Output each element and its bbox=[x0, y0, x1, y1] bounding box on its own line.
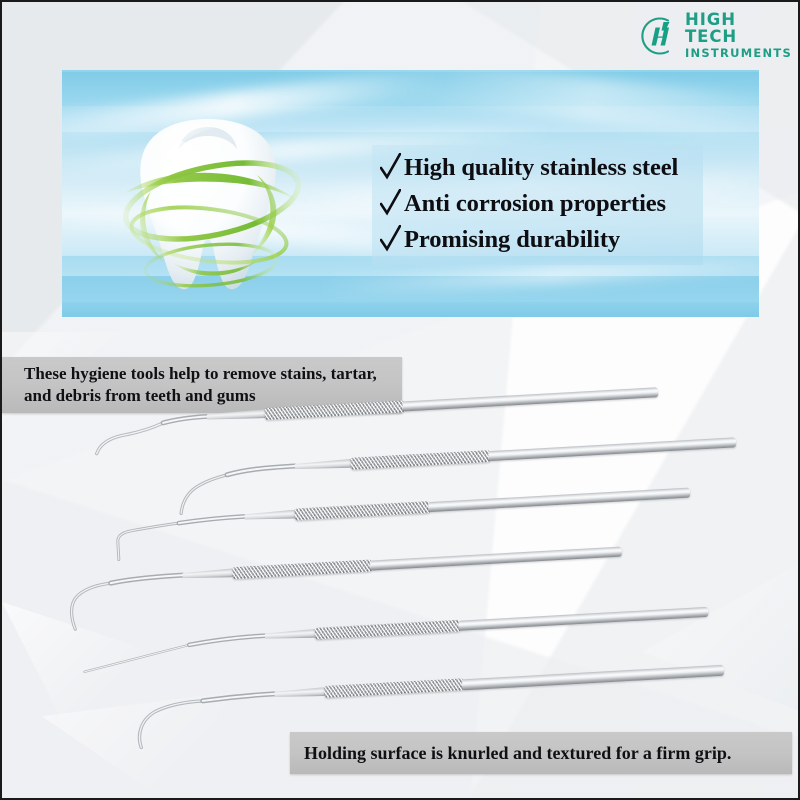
probe-tip-angled-hook bbox=[89, 411, 221, 464]
feature-list-panel: High quality stainless steel Anti corros… bbox=[372, 145, 703, 265]
brand-logo: HIGH TECH INSTRUMENTS bbox=[638, 14, 790, 58]
checkmark-icon bbox=[380, 189, 401, 219]
probe-shaft bbox=[370, 547, 622, 571]
probe-shaft bbox=[462, 665, 724, 691]
background-facet bbox=[642, 562, 800, 712]
description-line-2: and debris from teeth and gums bbox=[24, 385, 402, 407]
feature-item: Anti corrosion properties bbox=[380, 188, 693, 224]
product-image-canvas: HIGH TECH INSTRUMENTS bbox=[0, 0, 800, 800]
probe-tip-straight-needle bbox=[79, 631, 281, 682]
brand-line-1: HIGH TECH bbox=[685, 12, 792, 45]
feature-label: High quality stainless steel bbox=[404, 152, 678, 183]
probe-shaft bbox=[488, 437, 736, 461]
feature-label: Anti corrosion properties bbox=[404, 188, 666, 219]
brand-wordmark: HIGH TECH INSTRUMENTS bbox=[685, 12, 792, 60]
probe-knurled-handle bbox=[324, 678, 464, 698]
feature-item: High quality stainless steel bbox=[380, 152, 693, 188]
dental-probe-bent-hook bbox=[169, 433, 791, 520]
probe-knurled-handle bbox=[314, 620, 460, 640]
tooth-illustration bbox=[107, 97, 322, 312]
hero-light-streak bbox=[401, 70, 759, 142]
probe-taper bbox=[265, 629, 317, 641]
hero-banner: High quality stainless steel Anti corros… bbox=[62, 70, 759, 317]
probe-tip-sickle bbox=[128, 689, 291, 754]
checkmark-icon bbox=[380, 225, 401, 255]
dental-probe-curved-hook bbox=[58, 543, 680, 636]
dental-probe-right-angle bbox=[109, 484, 751, 570]
description-line-1: These hygiene tools help to remove stain… bbox=[24, 363, 402, 385]
probe-shaft bbox=[402, 387, 658, 411]
grip-caption-line: Holding surface is knurled and textured … bbox=[304, 742, 792, 764]
probe-taper bbox=[244, 510, 296, 522]
probe-knurled-handle bbox=[232, 560, 372, 580]
feature-label: Promising durability bbox=[404, 224, 620, 255]
probe-tip-curved-hook bbox=[58, 570, 201, 636]
probe-tip-right-angle bbox=[109, 512, 262, 570]
checkmark-icon bbox=[380, 153, 401, 183]
probe-taper bbox=[294, 459, 352, 471]
probe-shaft bbox=[458, 607, 708, 631]
description-banner: These hygiene tools help to remove stain… bbox=[2, 357, 402, 413]
dental-instrument-group bbox=[2, 410, 800, 730]
probe-shaft bbox=[428, 488, 690, 513]
green-swirl-ribbons-icon bbox=[107, 97, 322, 312]
brand-line-2: INSTRUMENTS bbox=[685, 48, 792, 60]
probe-knurled-handle bbox=[350, 450, 490, 470]
grip-caption-banner: Holding surface is knurled and textured … bbox=[290, 732, 792, 774]
background-facet bbox=[2, 602, 152, 732]
probe-taper bbox=[182, 568, 234, 580]
probe-taper bbox=[274, 687, 326, 699]
feature-item: Promising durability bbox=[380, 224, 693, 260]
h-monogram-circle-icon bbox=[638, 16, 678, 56]
background-facet bbox=[42, 692, 232, 800]
probe-tip-bent-hook bbox=[169, 460, 312, 520]
probe-knurled-handle bbox=[294, 501, 430, 521]
dental-probe-straight-needle bbox=[79, 606, 730, 682]
